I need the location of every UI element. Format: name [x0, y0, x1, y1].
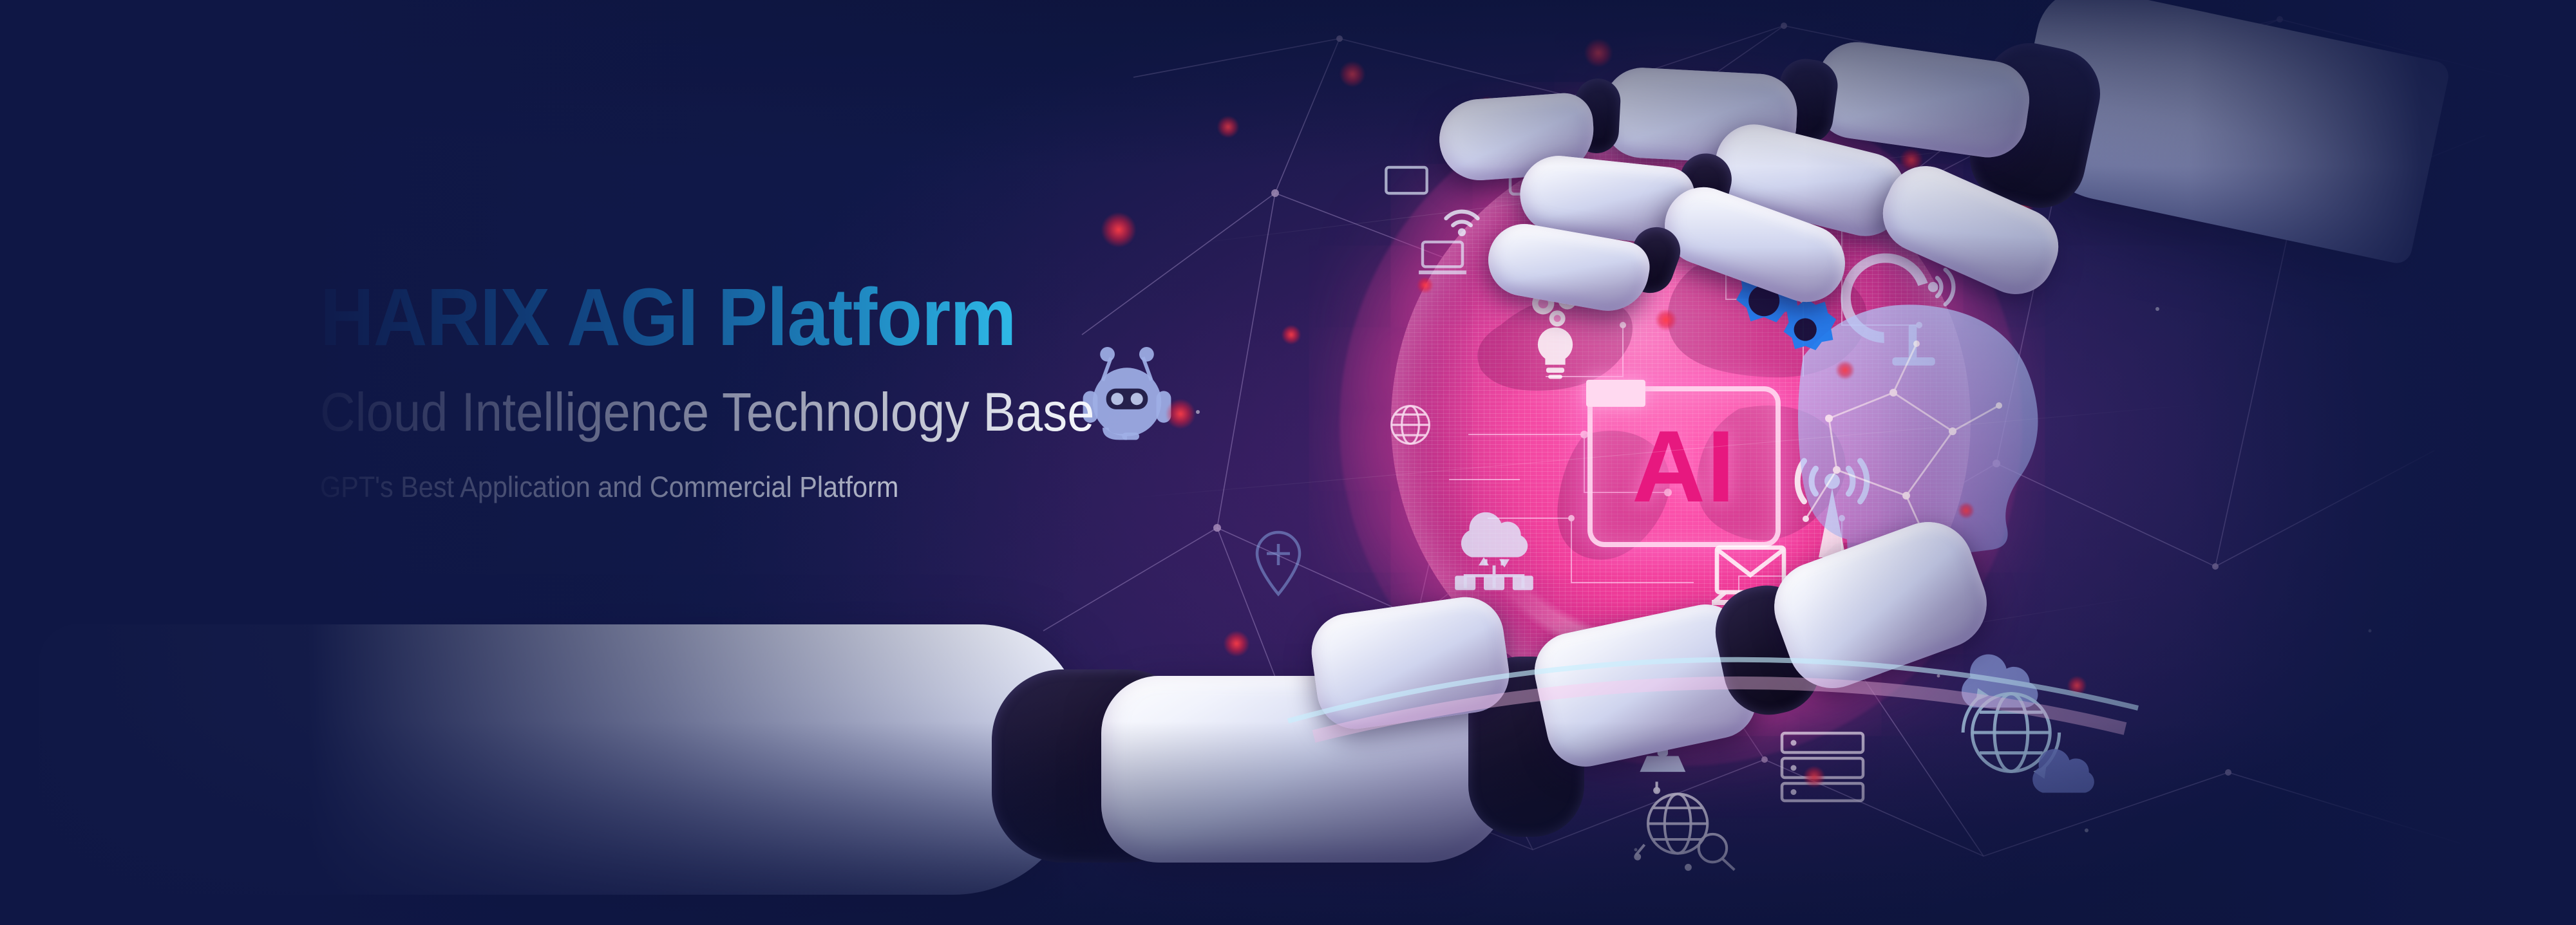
- ai-badge-connector: [1586, 380, 1645, 407]
- globe-wireframe-icon: [1385, 399, 1436, 451]
- bokeh-dot: [1217, 116, 1239, 138]
- robot-forearm-lower: [39, 624, 1082, 895]
- bokeh-dot: [1958, 502, 1975, 519]
- robot-hand-upper: [1327, 0, 2421, 373]
- hero-copy: HARIX AGI Platform Cloud Intelligence Te…: [320, 277, 1286, 501]
- page-tagline: GPT's Best Application and Commercial Pl…: [320, 472, 1209, 501]
- page-title: HARIX AGI Platform: [320, 277, 1209, 358]
- globe-base-reflection: [1275, 618, 2151, 772]
- cloud-network-icon: [1443, 489, 1546, 592]
- page-subtitle: Cloud Intelligence Technology Base: [320, 385, 1189, 439]
- hero-banner: AI: [0, 0, 2576, 925]
- ai-badge-label: AI: [1632, 416, 1736, 518]
- bokeh-dot: [1101, 212, 1136, 247]
